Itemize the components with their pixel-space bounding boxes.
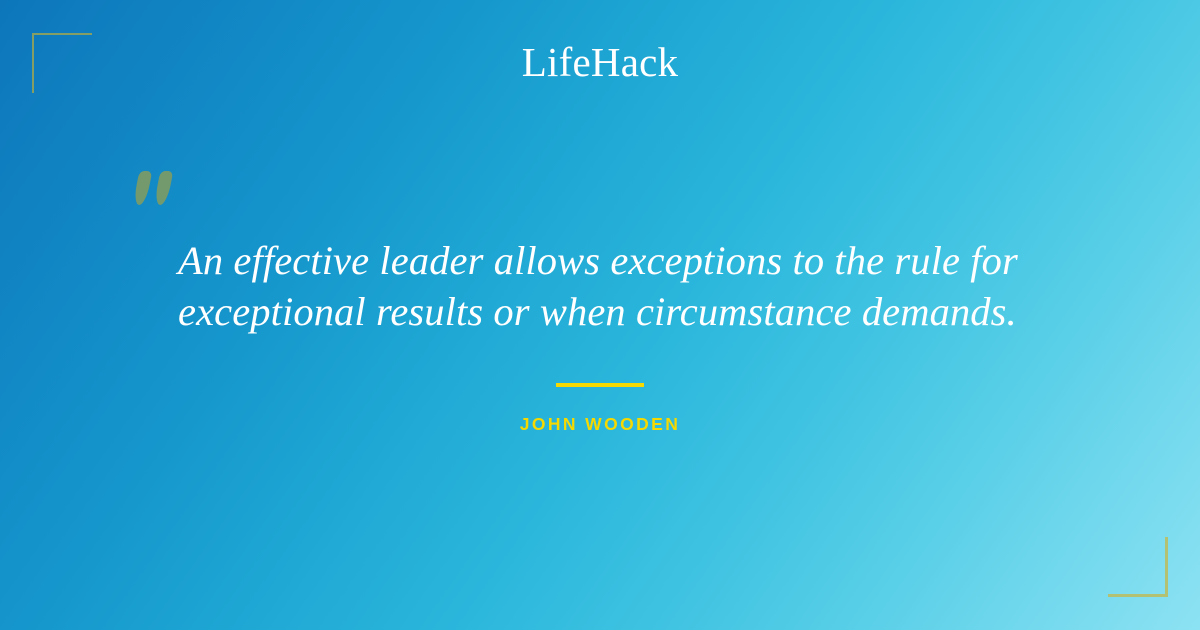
quote-tick-left <box>133 171 153 205</box>
attribution-divider <box>556 383 644 387</box>
quote-tick-right <box>154 171 174 205</box>
brand-logo: LifeHack <box>0 37 1200 87</box>
quote-card: LifeHack An effective leader allows exce… <box>0 0 1200 630</box>
quote-author: JOHN WOODEN <box>0 414 1200 435</box>
double-quote-icon <box>134 165 194 213</box>
corner-bracket-bottom-right-icon <box>1108 537 1168 597</box>
quote-text: An effective leader allows exceptions to… <box>178 235 1038 337</box>
quote-block: An effective leader allows exceptions to… <box>130 165 1080 337</box>
